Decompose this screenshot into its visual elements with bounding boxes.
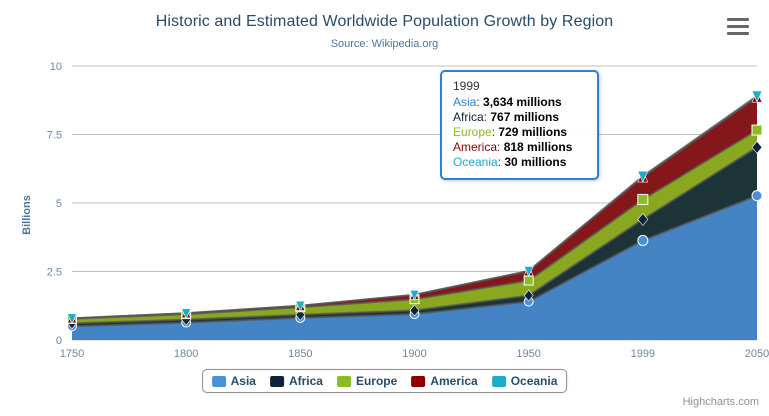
- legend-item-asia[interactable]: Asia: [212, 374, 256, 388]
- legend-swatch-europe: [337, 376, 351, 387]
- legend-item-oceania[interactable]: Oceania: [492, 374, 558, 388]
- x-axis-tick-label: 1950: [516, 348, 540, 360]
- tooltip-series-value: 30 millions: [504, 155, 566, 169]
- legend-swatch-asia: [212, 376, 226, 387]
- data-point-europe-1950[interactable]: [524, 276, 533, 285]
- tooltip-series-name: America: [453, 140, 497, 154]
- data-point-asia-2050[interactable]: [752, 191, 762, 201]
- x-axis-tick-label: 1900: [402, 348, 426, 360]
- data-point-asia-1999[interactable]: [638, 235, 648, 245]
- data-point-europe-2050[interactable]: [752, 125, 762, 135]
- legend-swatch-africa: [270, 376, 284, 387]
- tooltip-row-africa: Africa: 767 millions: [453, 110, 586, 125]
- chart-legend: AsiaAfricaEuropeAmericaOceania: [202, 369, 568, 393]
- legend-label: Africa: [289, 374, 323, 388]
- tooltip-row-oceania: Oceania: 30 millions: [453, 155, 586, 170]
- legend-label: Europe: [356, 374, 397, 388]
- tooltip-series-name: Europe: [453, 125, 492, 139]
- legend-swatch-america: [411, 376, 425, 387]
- plot-area: 02.557.510Billions1750180018501900195019…: [0, 0, 769, 416]
- tooltip-series-name: Asia: [453, 95, 476, 109]
- credits-link[interactable]: Highcharts.com: [683, 396, 759, 408]
- y-axis-title: Billions: [21, 195, 33, 235]
- chart-container: Historic and Estimated Worldwide Populat…: [0, 0, 769, 416]
- tooltip-separator: :: [476, 95, 483, 109]
- y-axis-tick-label: 5: [56, 198, 62, 210]
- tooltip-series-value: 729 millions: [498, 125, 567, 139]
- tooltip-series-name: Africa: [453, 110, 484, 124]
- legend-item-america[interactable]: America: [411, 374, 477, 388]
- tooltip-separator: :: [497, 140, 504, 154]
- legend-item-europe[interactable]: Europe: [337, 374, 397, 388]
- tooltip-row-europe: Europe: 729 millions: [453, 125, 586, 140]
- tooltip-header: 1999: [453, 79, 586, 93]
- legend-swatch-oceania: [492, 376, 506, 387]
- tooltip-series-value: 818 millions: [504, 140, 573, 154]
- legend-label: America: [430, 374, 477, 388]
- y-axis-tick-label: 0: [56, 335, 62, 347]
- legend-item-africa[interactable]: Africa: [270, 374, 323, 388]
- legend-label: Oceania: [511, 374, 558, 388]
- x-axis-tick-label: 2050: [745, 348, 769, 360]
- tooltip-series-name: Oceania: [453, 155, 498, 169]
- tooltip-series-value: 767 millions: [490, 110, 559, 124]
- y-axis-tick-label: 10: [50, 61, 62, 73]
- chart-tooltip: 1999 Asia: 3,634 millionsAfrica: 767 mil…: [440, 70, 599, 180]
- data-point-europe-1999[interactable]: [638, 194, 648, 204]
- x-axis-tick-label: 1999: [631, 348, 655, 360]
- tooltip-row-asia: Asia: 3,634 millions: [453, 95, 586, 110]
- x-axis-tick-label: 1750: [60, 348, 84, 360]
- tooltip-series-value: 3,634 millions: [483, 95, 562, 109]
- y-axis-tick-label: 7.5: [47, 130, 62, 142]
- y-axis-tick-label: 2.5: [47, 267, 62, 279]
- tooltip-rows: Asia: 3,634 millionsAfrica: 767 millions…: [453, 95, 586, 170]
- x-axis-tick-label: 1850: [288, 348, 312, 360]
- legend-label: Asia: [231, 374, 256, 388]
- tooltip-row-america: America: 818 millions: [453, 140, 586, 155]
- x-axis-tick-label: 1800: [174, 348, 198, 360]
